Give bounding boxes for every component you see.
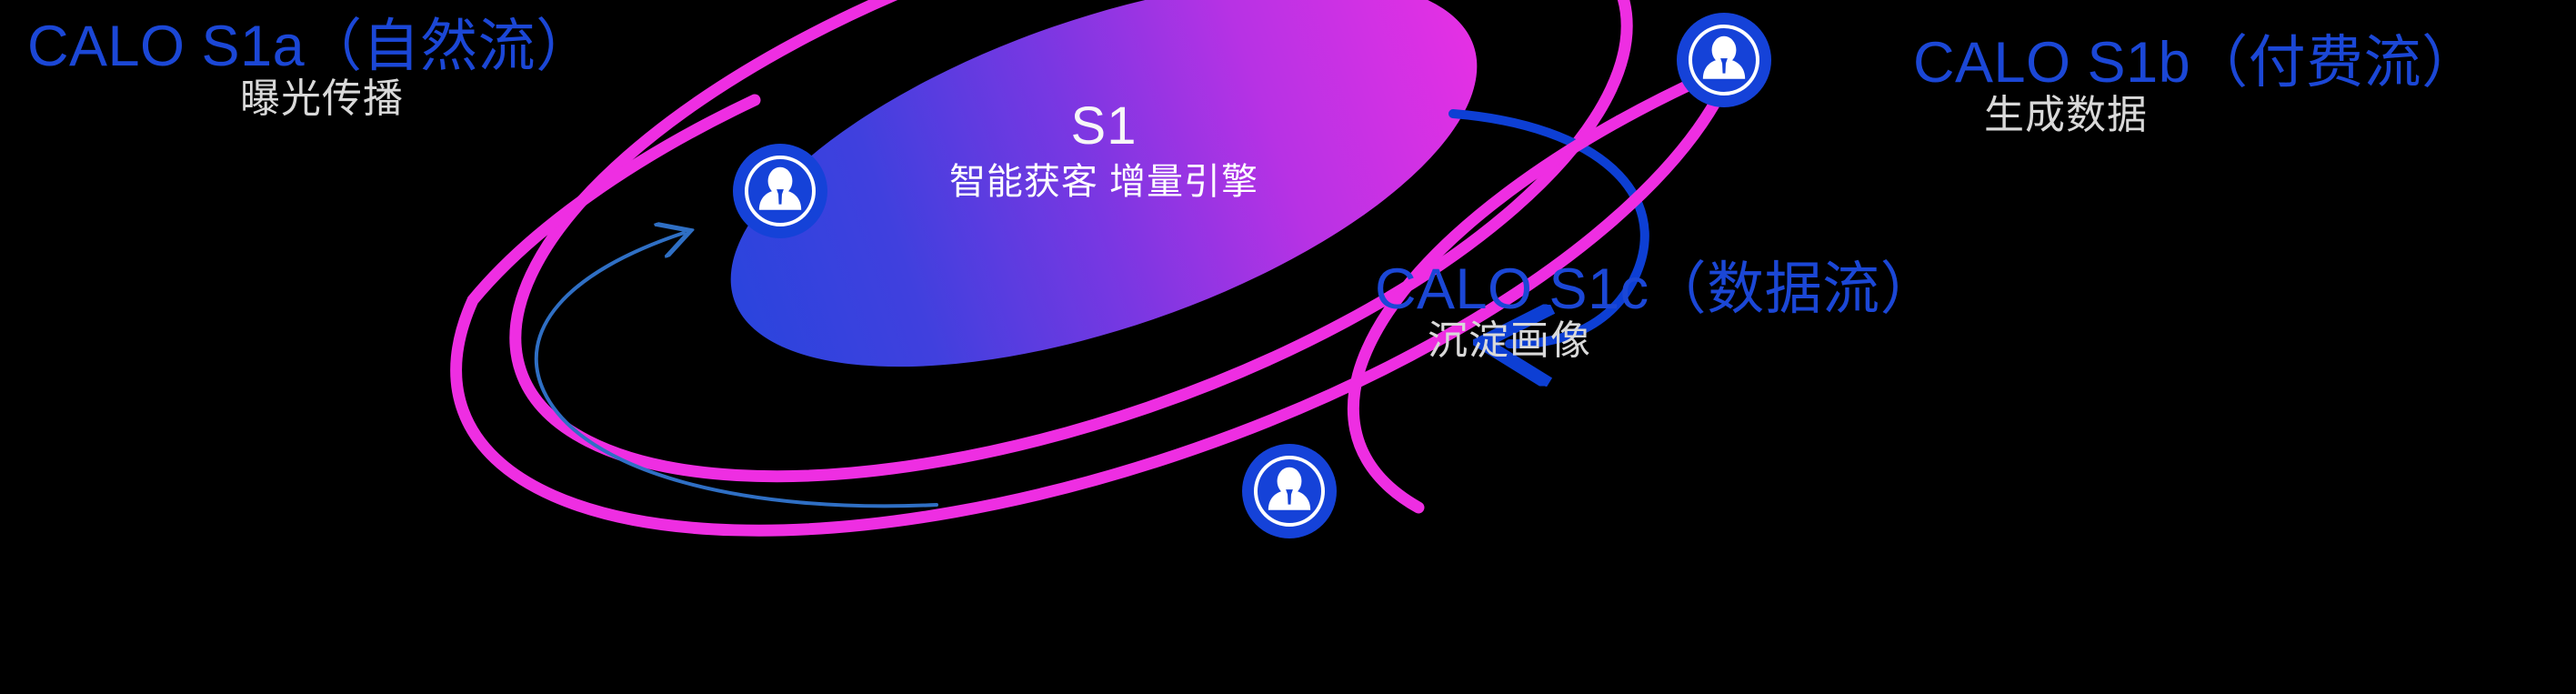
node-subtitle-s1a: 曝光传播 xyxy=(240,78,404,120)
node-title-s1b: CALO S1b（付费流） xyxy=(1913,33,2480,93)
node-title-s1c: CALO S1c（数据流） xyxy=(1375,259,1938,319)
node-badge-s1b[interactable] xyxy=(1677,13,1771,107)
core-text-block: S1 智能获客 增量引擎 xyxy=(867,100,1340,200)
core-title: S1 xyxy=(867,100,1340,153)
core-subtitle: 智能获客 增量引擎 xyxy=(867,164,1340,200)
node-subtitle-s1c: 沉淀画像 xyxy=(1428,320,1591,362)
node-badge-s1c[interactable] xyxy=(1242,444,1337,538)
node-subtitle-s1b: 生成数据 xyxy=(1984,95,2148,136)
node-badge-s1a[interactable] xyxy=(733,144,827,238)
diagram-canvas: S1 智能获客 增量引擎 CALO S1a（自然流） 曝光传播 CALO S1b… xyxy=(0,0,2576,694)
node-title-s1a: CALO S1a（自然流） xyxy=(27,16,594,76)
